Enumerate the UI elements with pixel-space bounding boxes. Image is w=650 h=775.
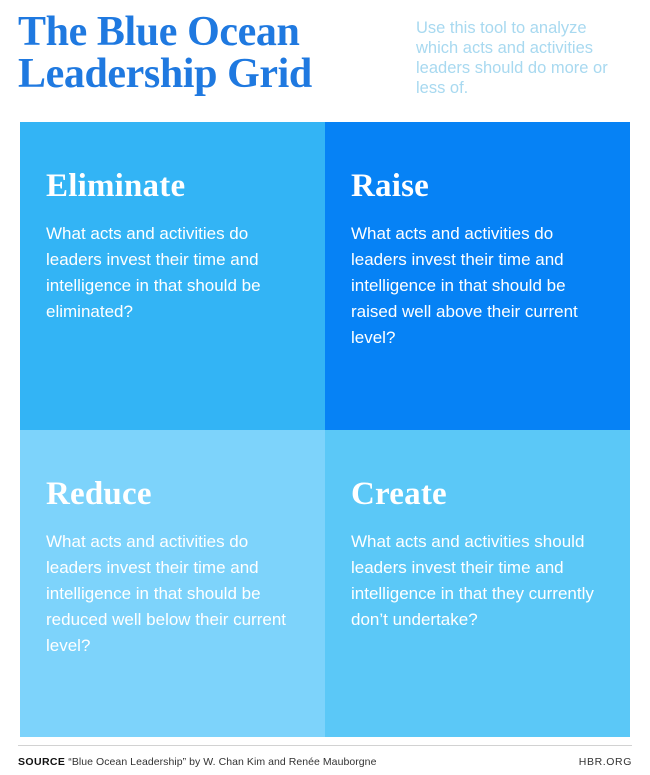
infographic-root: The Blue Ocean Leadership Grid Use this … (0, 0, 650, 775)
source-text: “Blue Ocean Leadership” by W. Chan Kim a… (68, 756, 376, 768)
quadrant-eliminate: Eliminate What acts and activities do le… (20, 122, 325, 430)
quadrant-heading-create: Create (351, 478, 604, 511)
quadrant-body-create: What acts and activities should leaders … (351, 529, 604, 633)
quadrant-heading-reduce: Reduce (46, 478, 299, 511)
header: The Blue Ocean Leadership Grid Use this … (0, 0, 650, 122)
quadrant-reduce: Reduce What acts and activities do leade… (20, 430, 325, 738)
quadrant-body-eliminate: What acts and activities do leaders inve… (46, 221, 299, 325)
quadrant-raise: Raise What acts and activities do leader… (325, 122, 630, 430)
leadership-grid: Eliminate What acts and activities do le… (20, 122, 630, 737)
quadrant-create: Create What acts and activities should l… (325, 430, 630, 738)
page-title: The Blue Ocean Leadership Grid (18, 12, 408, 95)
source-label: SOURCE (18, 756, 65, 768)
footer: SOURCE “Blue Ocean Leadership” by W. Cha… (18, 752, 632, 772)
publisher-mark: HBR.ORG (579, 756, 632, 768)
quadrant-body-raise: What acts and activities do leaders inve… (351, 221, 604, 351)
quadrant-heading-eliminate: Eliminate (46, 170, 299, 203)
footer-divider (18, 745, 632, 746)
quadrant-body-reduce: What acts and activities do leaders inve… (46, 529, 299, 659)
quadrant-heading-raise: Raise (351, 170, 604, 203)
title-block: The Blue Ocean Leadership Grid (18, 12, 408, 95)
page-subtitle: Use this tool to analyze which acts and … (416, 18, 632, 99)
subtitle-block: Use this tool to analyze which acts and … (408, 12, 632, 99)
source-credit: SOURCE “Blue Ocean Leadership” by W. Cha… (18, 756, 376, 768)
